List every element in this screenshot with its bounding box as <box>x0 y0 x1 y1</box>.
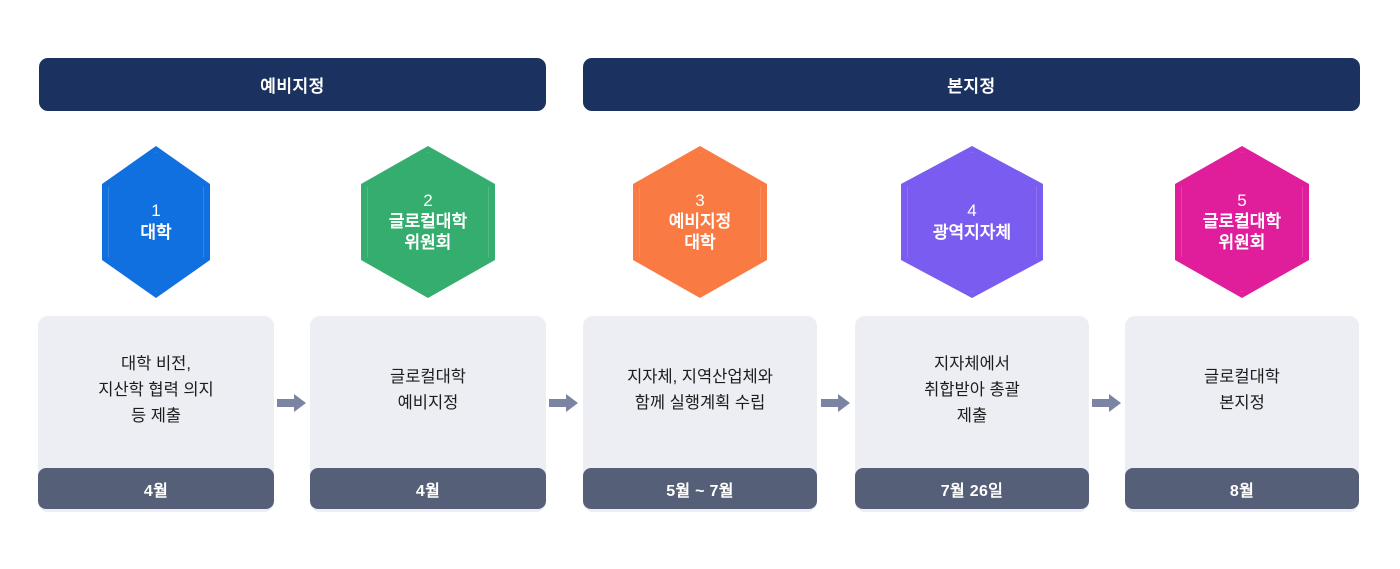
step-period-label: 4월 <box>416 477 440 501</box>
step-actor-label: 글로컬대학 위원회 <box>1203 212 1281 252</box>
step-actor-label: 글로컬대학 위원회 <box>389 212 467 252</box>
step-period-badge: 4월 <box>38 468 274 509</box>
step-number: 1 <box>151 201 160 221</box>
step-hexagon-2: 2 글로컬대학 위원회 <box>361 146 495 298</box>
step-hexagon-3: 3 예비지정 대학 <box>633 146 767 298</box>
step-hexagon-wrapper: 5 글로컬대학 위원회 <box>1175 146 1309 298</box>
right-arrow-icon <box>546 388 582 418</box>
step-card-2: 글로컬대학 예비지정 4월 <box>310 316 546 512</box>
step-hexagon-1: 1 대학 <box>102 146 210 298</box>
process-step-5: 5 글로컬대학 위원회 글로컬대학 본지정 8월 <box>1125 0 1359 569</box>
step-hexagon-wrapper: 1 대학 <box>102 146 210 298</box>
step-description: 글로컬대학 예비지정 <box>390 364 466 416</box>
step-hexagon-wrapper: 4 광역지자체 <box>901 146 1043 298</box>
step-hexagon-wrapper: 2 글로컬대학 위원회 <box>361 146 495 298</box>
step-actor-label: 광역지자체 <box>933 223 1011 243</box>
step-description: 대학 비전, 지산학 협력 의지 등 제출 <box>98 351 213 429</box>
step-card-body: 지자체에서 취합받아 총괄 제출 <box>855 316 1089 464</box>
step-number: 4 <box>967 201 976 221</box>
step-period-label: 7월 26일 <box>941 477 1003 501</box>
step-card-body: 글로컬대학 예비지정 <box>310 316 546 464</box>
step-period-label: 8월 <box>1230 477 1254 501</box>
process-step-2: 2 글로컬대학 위원회 글로컬대학 예비지정 4월 <box>310 0 546 569</box>
process-flow-diagram: 예비지정 본지정 1 대학 대학 비전, 지산학 협력 의지 등 제출 4월 2… <box>0 0 1400 569</box>
step-number: 5 <box>1237 191 1246 211</box>
right-arrow-icon <box>274 388 310 418</box>
process-step-3: 3 예비지정 대학 지자체, 지역산업체와 함께 실행계획 수립 5월 ~ 7월 <box>583 0 817 569</box>
step-card-1: 대학 비전, 지산학 협력 의지 등 제출 4월 <box>38 316 274 512</box>
step-hexagon-4: 4 광역지자체 <box>901 146 1043 298</box>
step-card-body: 글로컬대학 본지정 <box>1125 316 1359 464</box>
right-arrow-icon <box>818 388 854 418</box>
step-card-body: 지자체, 지역산업체와 함께 실행계획 수립 <box>583 316 817 464</box>
step-description: 글로컬대학 본지정 <box>1204 364 1280 416</box>
step-period-label: 4월 <box>144 477 168 501</box>
step-card-body: 대학 비전, 지산학 협력 의지 등 제출 <box>38 316 274 464</box>
step-period-badge: 4월 <box>310 468 546 509</box>
step-card-4: 지자체에서 취합받아 총괄 제출 7월 26일 <box>855 316 1089 512</box>
step-number: 3 <box>695 191 704 211</box>
step-hexagon-wrapper: 3 예비지정 대학 <box>633 146 767 298</box>
step-period-badge: 7월 26일 <box>855 468 1089 509</box>
step-period-label: 5월 ~ 7월 <box>666 477 734 501</box>
step-card-5: 글로컬대학 본지정 8월 <box>1125 316 1359 512</box>
step-description: 지자체에서 취합받아 총괄 제출 <box>924 351 1020 429</box>
step-hexagon-5: 5 글로컬대학 위원회 <box>1175 146 1309 298</box>
step-actor-label: 예비지정 대학 <box>669 212 732 252</box>
step-number: 2 <box>423 191 432 211</box>
process-step-1: 1 대학 대학 비전, 지산학 협력 의지 등 제출 4월 <box>38 0 274 569</box>
step-period-badge: 5월 ~ 7월 <box>583 468 817 509</box>
process-step-4: 4 광역지자체 지자체에서 취합받아 총괄 제출 7월 26일 <box>855 0 1089 569</box>
step-period-badge: 8월 <box>1125 468 1359 509</box>
step-description: 지자체, 지역산업체와 함께 실행계획 수립 <box>627 364 773 416</box>
step-actor-label: 대학 <box>140 223 171 243</box>
right-arrow-icon <box>1089 388 1125 418</box>
step-card-3: 지자체, 지역산업체와 함께 실행계획 수립 5월 ~ 7월 <box>583 316 817 512</box>
